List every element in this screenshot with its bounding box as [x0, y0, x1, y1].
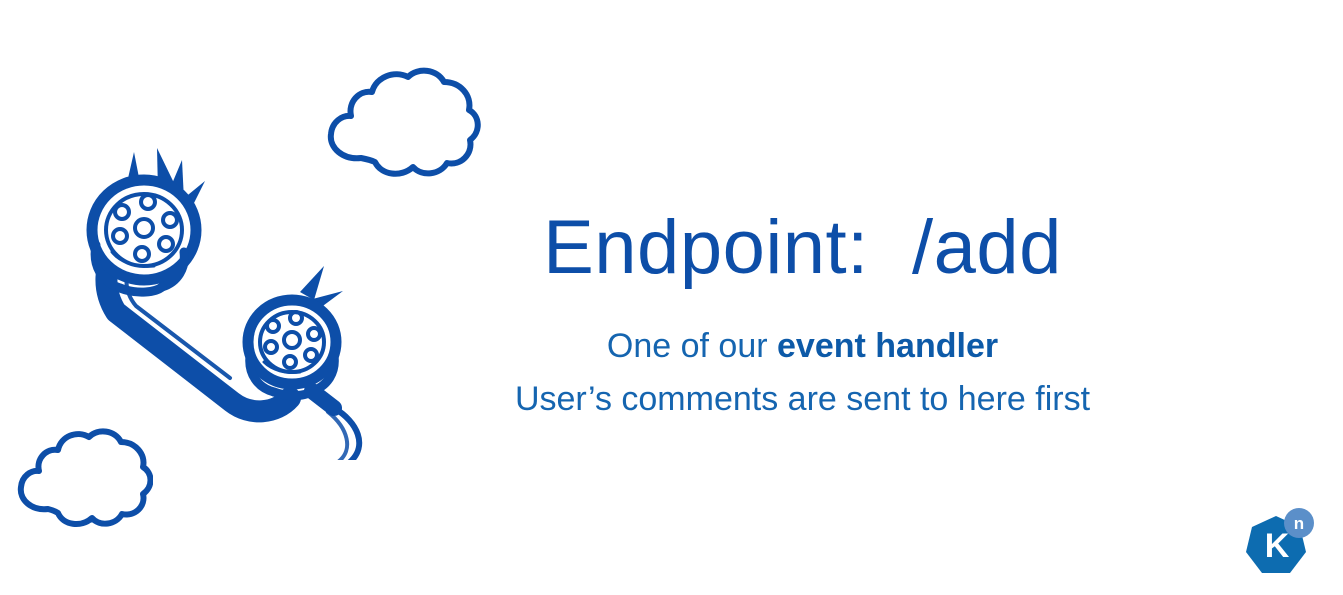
brand-logo: K n — [1246, 508, 1322, 584]
subtitle-line-2: User’s comments are sent to here first — [430, 373, 1175, 426]
slide-canvas: Endpoint: /add One of our event handler … — [0, 0, 1343, 595]
cloud-icon — [8, 425, 153, 530]
subtitle-block: One of our event handler User’s comments… — [430, 320, 1175, 425]
page-title: Endpoint: /add — [430, 210, 1175, 286]
subtitle-line-1-prefix: One of our — [607, 327, 777, 365]
subtitle-line-1: One of our event handler — [430, 320, 1175, 373]
subtitle-line-1-emphasis: event handler — [777, 327, 998, 365]
logo-badge-n: n — [1284, 508, 1314, 538]
ringing-telephone-handset-icon — [62, 140, 372, 460]
slide-text-block: Endpoint: /add One of our event handler … — [430, 210, 1175, 425]
cloud-icon — [315, 62, 485, 182]
